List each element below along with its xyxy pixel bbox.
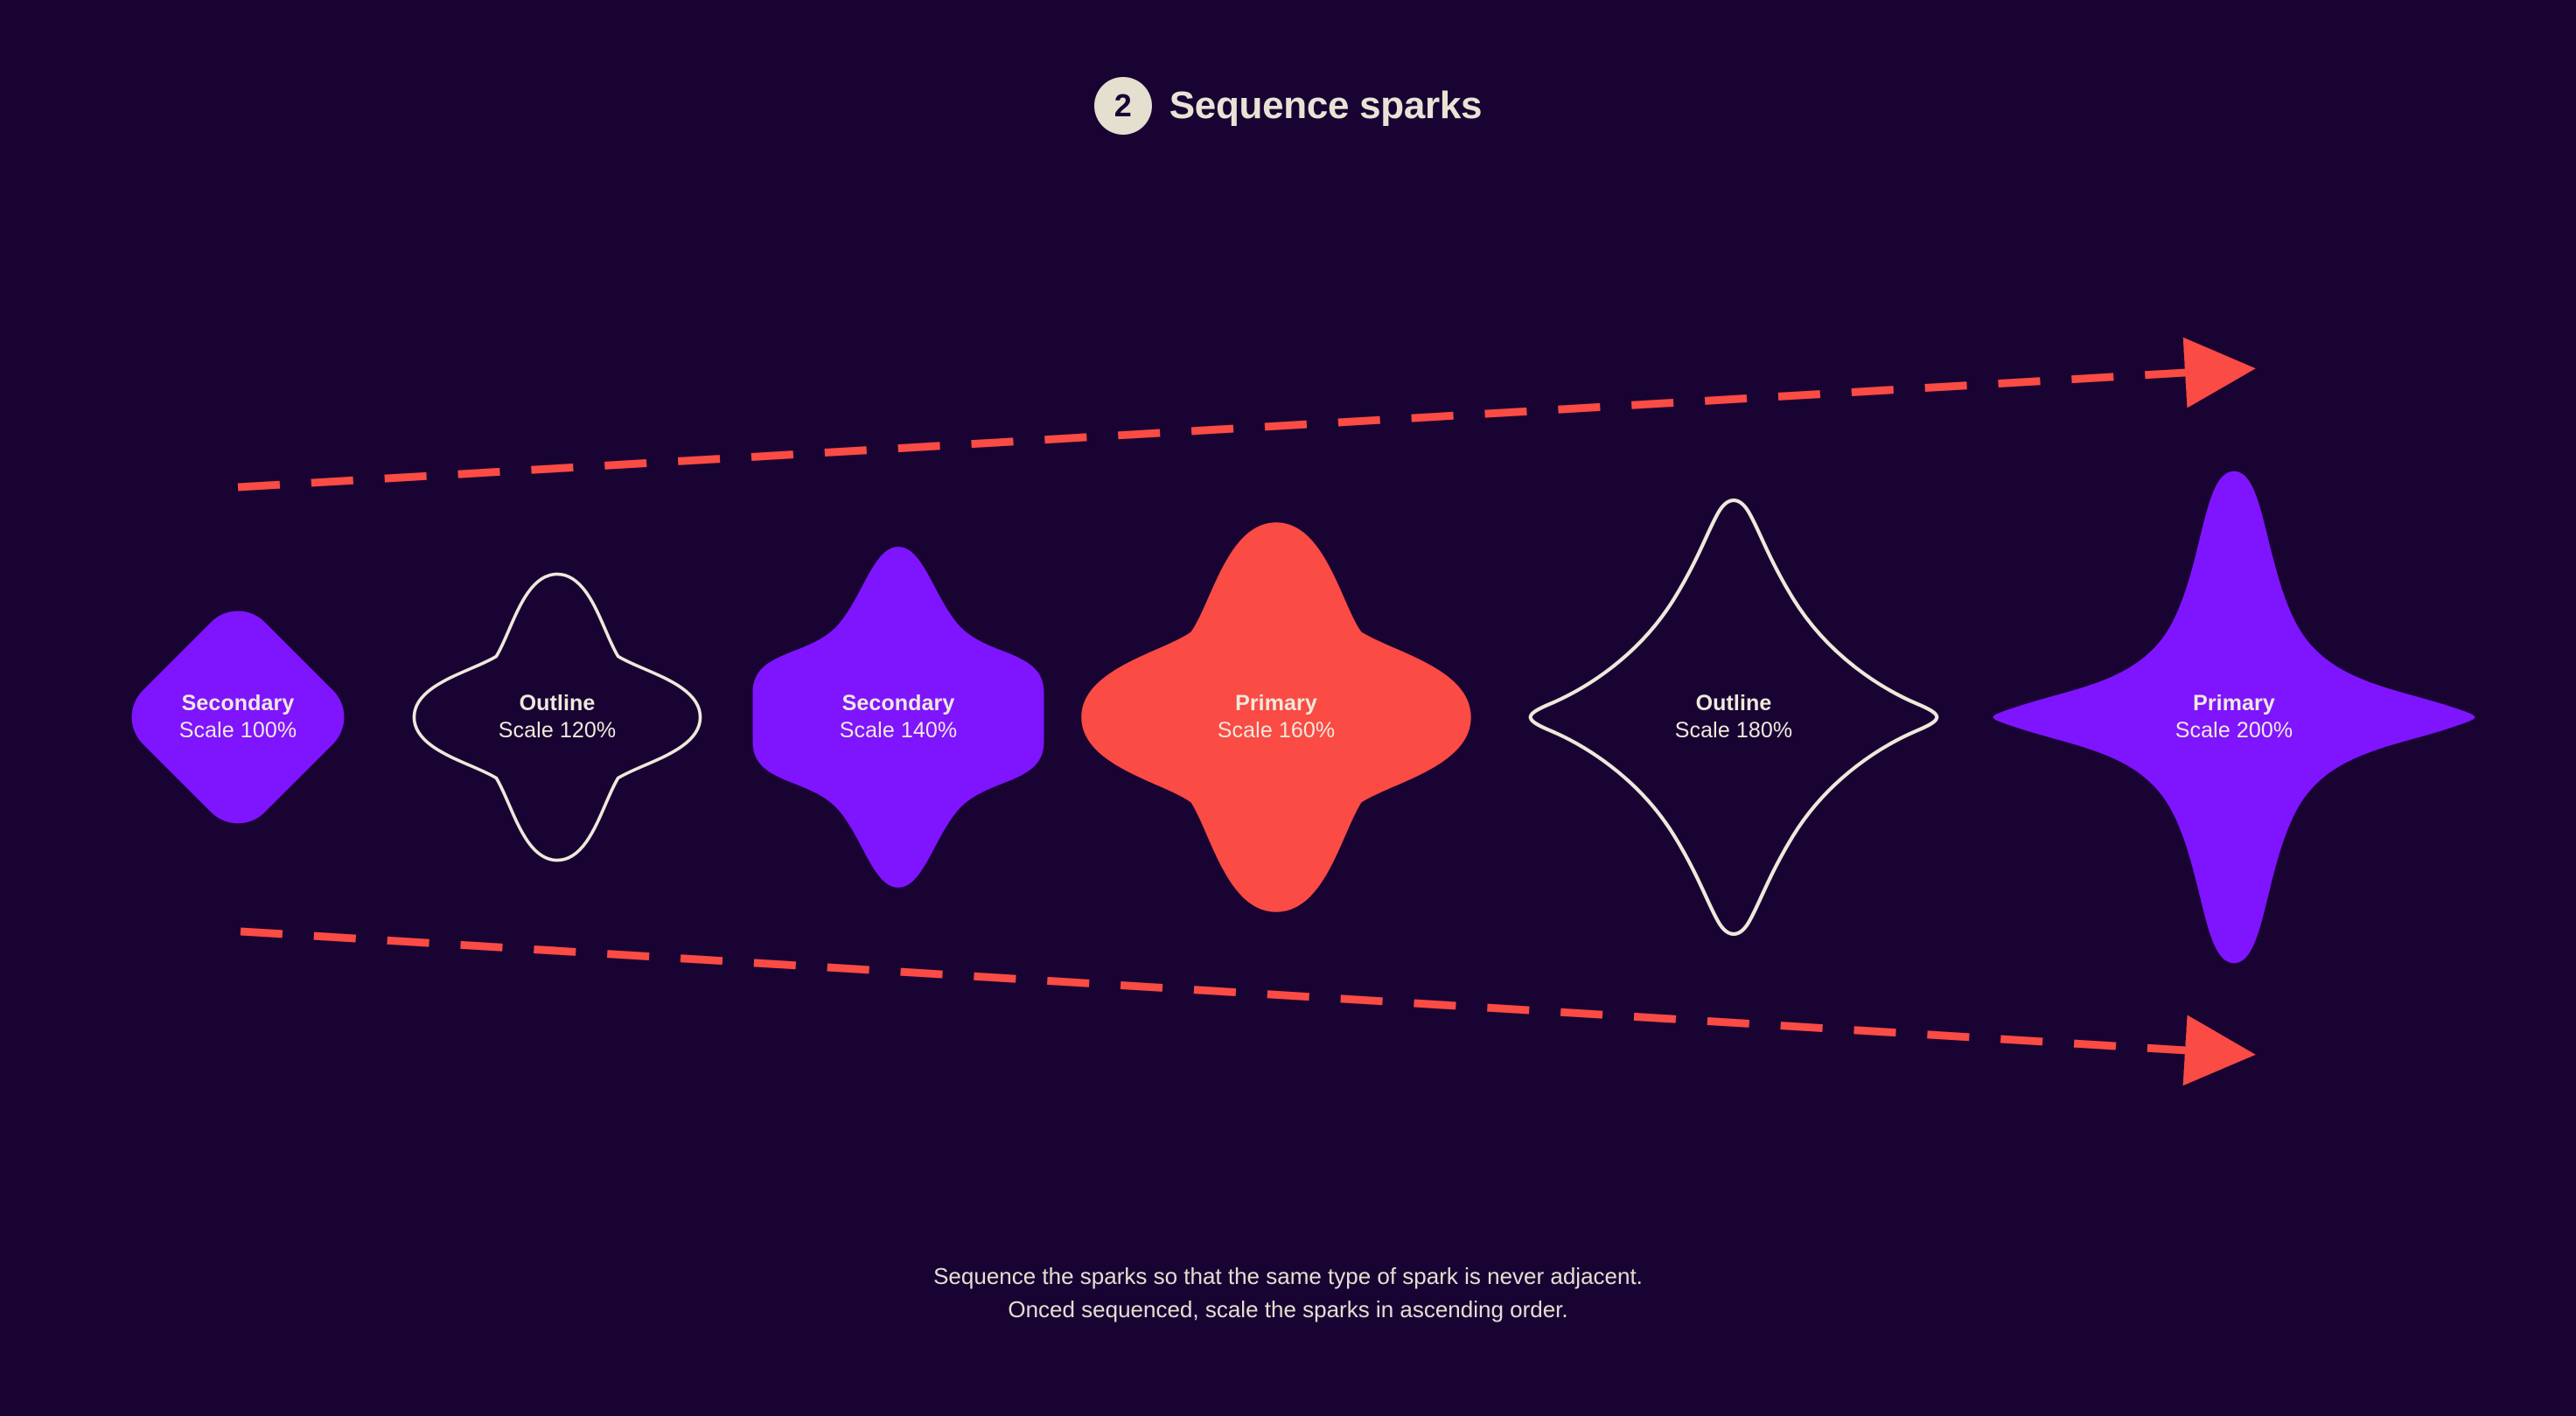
spark-item-3[interactable]: Secondary Scale 140% <box>721 540 1076 895</box>
spark-labels: Secondary Scale 100% <box>179 690 297 745</box>
spark-item-2[interactable]: Outline Scale 120% <box>405 565 709 869</box>
spark-type-label: Primary <box>2175 690 2293 718</box>
spark-labels: Secondary Scale 140% <box>840 690 957 745</box>
spark-labels: Primary Scale 160% <box>1218 690 1335 745</box>
caption-line-1: Sequence the sparks so that the same typ… <box>0 1259 2576 1293</box>
spark-item-5[interactable]: Outline Scale 180% <box>1505 489 1962 945</box>
spark-scale-label: Scale 140% <box>840 717 957 745</box>
slide-canvas: 2 Sequence sparks Secondary Scale 100% <box>0 0 2576 1416</box>
spark-type-label: Primary <box>1218 690 1335 718</box>
spark-labels: Outline Scale 120% <box>499 690 616 745</box>
spark-type-label: Outline <box>1675 690 1792 718</box>
spark-type-label: Secondary <box>840 690 957 718</box>
spark-scale-label: Scale 120% <box>499 717 616 745</box>
spark-item-4[interactable]: Primary Scale 160% <box>1073 514 1479 920</box>
spark-item-1[interactable]: Secondary Scale 100% <box>111 590 365 844</box>
instruction-caption: Sequence the sparks so that the same typ… <box>0 1259 2576 1327</box>
caption-line-2: Onced sequenced, scale the sparks in asc… <box>0 1293 2576 1326</box>
spark-labels: Primary Scale 200% <box>2175 690 2293 745</box>
spark-scale-label: Scale 160% <box>1218 717 1335 745</box>
spark-scale-label: Scale 180% <box>1675 717 1792 745</box>
spark-type-label: Secondary <box>179 690 297 718</box>
spark-scale-label: Scale 100% <box>179 717 297 745</box>
spark-labels: Outline Scale 180% <box>1675 690 1792 745</box>
sparks-row: Secondary Scale 100% Outline Scale 120% … <box>0 0 2576 1416</box>
spark-type-label: Outline <box>499 690 616 718</box>
spark-scale-label: Scale 200% <box>2175 717 2293 745</box>
spark-item-6[interactable]: Primary Scale 200% <box>1980 464 2488 971</box>
